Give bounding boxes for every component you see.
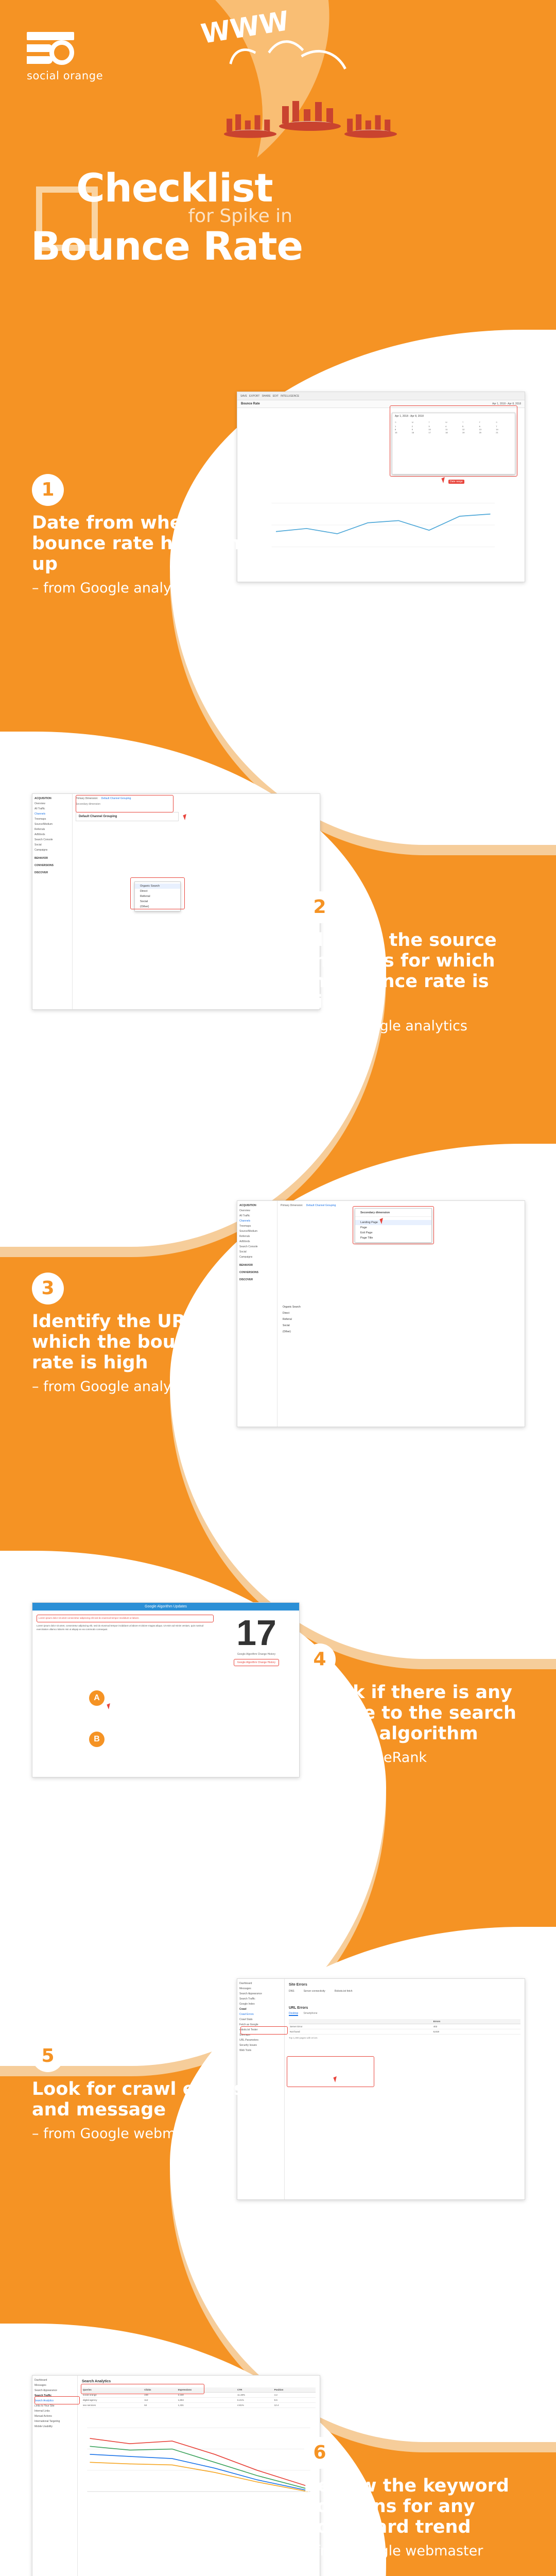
site-error-item: Robots.txt fetch xyxy=(335,1990,353,1993)
tab-smartphone[interactable]: Smartphone xyxy=(303,2012,317,2016)
fountain-base-icon xyxy=(279,102,341,131)
nav-item[interactable]: Search Console xyxy=(239,1244,275,1249)
screenshot-google-analytics-overview[interactable]: SAVE EXPORT SHARE EDIT INTELLIGENCE Boun… xyxy=(237,392,525,582)
ga-left-nav[interactable]: ACQUISITION Overview All Traffic Channel… xyxy=(32,794,73,1009)
nav-item[interactable]: Manual Actions xyxy=(34,2414,75,2419)
cell: 8.6 xyxy=(273,2398,316,2403)
step-source: – from Google analytics xyxy=(32,580,253,597)
cell: Server Error xyxy=(289,2024,432,2029)
col-header xyxy=(289,2019,432,2024)
nav-item[interactable]: Treemaps xyxy=(239,1224,275,1229)
list-item[interactable]: Organic Search xyxy=(283,1304,301,1310)
list-item[interactable]: Referral xyxy=(283,1316,301,1323)
cell: 1,804 xyxy=(177,2398,236,2403)
screenshot-algorithm-update[interactable]: Google Algorithm Updates Lorem ipsum dol… xyxy=(32,1602,300,1777)
highlight-box xyxy=(81,2384,204,2394)
list-item[interactable]: Direct xyxy=(283,1310,301,1316)
banner-title: Google Algorithm Updates xyxy=(32,1603,299,1611)
update-count: 17 xyxy=(218,1615,295,1651)
nav-item[interactable]: Crawl xyxy=(239,2007,282,2012)
panel-title: Search Analytics xyxy=(82,2380,316,2383)
nav-item[interactable]: Google Index xyxy=(239,2002,282,2007)
step-2: 2 Identify the source channels for which… xyxy=(304,891,525,1035)
step-number-badge: 3 xyxy=(32,1273,64,1304)
list-item[interactable]: Social xyxy=(283,1323,301,1329)
cell: 4.2 xyxy=(273,2393,316,2398)
step-title: Review the keyword positions for any dow… xyxy=(304,2476,525,2538)
nav-item[interactable]: Dashboard xyxy=(239,1981,282,1986)
channel-list[interactable]: Organic Search Direct Referral Social (O… xyxy=(283,1304,301,1335)
step-source: – from Google webmaster xyxy=(32,2126,253,2142)
step-title: Identify the URL for which the bounce ra… xyxy=(32,1312,253,1374)
highlight-box xyxy=(240,2026,288,2035)
site-error-item: DNS xyxy=(289,1990,294,1993)
step-number-badge: 6 xyxy=(304,2437,336,2469)
nav-item[interactable]: Messages xyxy=(34,2383,75,2388)
ga-report-title: Bounce Rate xyxy=(241,402,260,405)
nav-item[interactable]: Search Appearance xyxy=(239,1991,282,1996)
step-6: 6 Review the keyword positions for any d… xyxy=(304,2437,525,2560)
ga-toolbar[interactable]: SAVE EXPORT SHARE EDIT INTELLIGENCE xyxy=(237,392,525,400)
step-number-badge: 4 xyxy=(304,1643,336,1675)
nav-header: ACQUISITION xyxy=(34,796,70,801)
step-source: – from Google analytics xyxy=(32,1379,253,1395)
site-errors-title: Site Errors xyxy=(289,1983,520,1987)
nav-item[interactable]: Search Console xyxy=(34,837,70,842)
primary-dimension-label: Primary Dimension: xyxy=(281,1204,303,1207)
fountain-base-icon xyxy=(344,113,397,138)
cell: 402 xyxy=(432,2024,520,2029)
nav-item[interactable]: Social xyxy=(34,842,70,848)
nav-item[interactable]: Messages xyxy=(239,1986,282,1991)
nav-item[interactable]: DISCOVER xyxy=(34,870,70,875)
nav-item[interactable]: Campaigns xyxy=(239,1255,275,1260)
cell: 112 xyxy=(143,2398,177,2403)
cell: 11.48% xyxy=(236,2393,273,2398)
channel-grouping-panel: Default Channel Grouping xyxy=(76,812,179,821)
nav-item[interactable]: CONVERSIONS xyxy=(34,863,70,868)
tab-desktop[interactable]: Desktop xyxy=(289,2012,298,2016)
hero-title-line1: Checklist xyxy=(31,170,381,206)
cell: 4.81% xyxy=(236,2403,273,2408)
table-footnote: Top 1,000 pages with errors xyxy=(289,2037,520,2039)
screenshot-ga-acquisition-channels[interactable]: ACQUISITION Overview All Traffic Channel… xyxy=(32,793,320,1010)
nav-item[interactable]: AdWords xyxy=(34,832,70,837)
toolbar-item[interactable]: INTELLIGENCE xyxy=(281,395,299,398)
infographic-page: social orange WWW Checklist for Sp xyxy=(0,0,556,2576)
logo-mark-icon xyxy=(27,32,74,65)
highlight-box xyxy=(76,795,173,812)
logo-wordmark: social orange xyxy=(27,70,125,82)
list-item[interactable]: (Other) xyxy=(283,1329,301,1335)
step-3: 3 Identify the URL for which the bounce … xyxy=(32,1273,253,1395)
table-row: Not found 8,819 xyxy=(289,2029,520,2035)
table-row: seo services 64 1,331 4.81% 12.4 xyxy=(82,2403,316,2408)
nav-item[interactable]: Crawl Stats xyxy=(239,2017,282,2022)
table-row: Server Error 402 xyxy=(289,2024,520,2029)
step-title: Date from when bounce rate has gone up xyxy=(32,513,253,575)
col-header: Errors xyxy=(432,2019,520,2024)
nav-item[interactable]: International Targeting xyxy=(34,2419,75,2424)
url-errors-table: Errors Server Error 402 Not found 8,819 xyxy=(289,2019,520,2035)
toolbar-item[interactable]: SAVE xyxy=(240,395,247,398)
nav-item[interactable]: AdWords xyxy=(239,1239,275,1244)
step-title: Check if there is any update to the sear… xyxy=(304,1683,525,1744)
webmaster-left-nav[interactable]: Dashboard Messages Search Appearance Sea… xyxy=(32,2376,78,2576)
table-row: digital agency 112 1,804 6.21% 8.6 xyxy=(82,2398,316,2403)
screenshot-webmaster-crawl-errors[interactable]: Dashboard Messages Search Appearance Sea… xyxy=(237,1978,525,2200)
cell: digital agency xyxy=(82,2398,143,2403)
highlight-box xyxy=(34,2396,80,2404)
nav-item[interactable]: Referrals xyxy=(239,1234,275,1239)
nav-item[interactable]: BEHAVIOR xyxy=(34,856,70,861)
nav-item[interactable]: Dashboard xyxy=(34,2378,75,2383)
nav-item[interactable]: Referrals xyxy=(34,827,70,832)
cell: 64 xyxy=(143,2403,177,2408)
nav-item[interactable]: Treemaps xyxy=(34,817,70,822)
cell: 8,819 xyxy=(432,2029,520,2035)
article-body: Lorem ipsum dolor sit amet consectetur a… xyxy=(37,1615,214,1666)
step-title: Look for crawl errors and message xyxy=(32,2079,253,2121)
nav-item[interactable]: BEHAVIOR xyxy=(239,1263,275,1268)
highlight-box xyxy=(287,2056,374,2087)
marker-badge-a: A xyxy=(89,1690,105,1706)
hero-headline: Checklist for Spike in Bounce Rate xyxy=(31,170,381,265)
callout-label: Date range xyxy=(448,480,464,484)
screenshot-keyword-rank-tracker[interactable]: Dashboard Messages Search Appearance Sea… xyxy=(32,2375,320,2576)
bounce-rate-line-chart xyxy=(237,490,525,578)
nav-item[interactable]: Source/Medium xyxy=(239,1229,275,1234)
step-1: 1 Date from when bounce rate has gone up… xyxy=(32,474,253,597)
nav-item[interactable]: Source/Medium xyxy=(34,822,70,827)
cell: Not found xyxy=(289,2029,432,2035)
nav-item[interactable]: Search Traffic xyxy=(239,1996,282,2002)
nav-item[interactable]: Social xyxy=(239,1249,275,1255)
cell: 12.4 xyxy=(273,2403,316,2408)
nav-item[interactable]: Internal Links xyxy=(34,2409,75,2414)
hero-title-line2: Bounce Rate xyxy=(31,228,381,265)
nav-item[interactable]: Channels xyxy=(239,1218,275,1224)
primary-dimension-value[interactable]: Default Channel Grouping xyxy=(306,1204,336,1207)
step-number-badge: 5 xyxy=(32,2040,64,2072)
cursor-icon xyxy=(107,1703,112,1709)
step-source: – Using PageRank xyxy=(304,1750,525,1766)
nav-header: ACQUISITION xyxy=(239,1203,275,1208)
step-source: – from Google webmaster xyxy=(304,2543,525,2560)
cell: 1,331 xyxy=(177,2403,236,2408)
nav-item[interactable]: Channels xyxy=(34,811,70,817)
nav-item[interactable]: Search Appearance xyxy=(34,2388,75,2393)
highlight-box xyxy=(390,405,517,477)
nav-item[interactable]: Crawl Errors xyxy=(239,2012,282,2017)
highlight-box xyxy=(353,1206,434,1244)
nav-item[interactable]: Overview xyxy=(34,801,70,806)
nav-item[interactable]: All Traffic xyxy=(34,806,70,811)
cursor-icon xyxy=(441,477,446,483)
marker-badge-b: B xyxy=(89,1732,105,1747)
toolbar-item[interactable]: EDIT xyxy=(273,395,279,398)
toolbar-item[interactable]: EXPORT xyxy=(249,395,259,398)
step-5: 5 Look for crawl errors and message – fr… xyxy=(32,2040,253,2142)
cursor-icon xyxy=(183,814,188,820)
step-source: – from Google analytics xyxy=(304,1018,525,1035)
brand-logo[interactable]: social orange xyxy=(27,32,125,82)
fountain-base-icon xyxy=(224,113,276,138)
panel-title: Default Channel Grouping xyxy=(79,815,176,818)
nav-item[interactable]: Mobile Usability xyxy=(34,2424,75,2429)
screenshot-ga-landing-pages[interactable]: ACQUISITION Overview All Traffic Channel… xyxy=(237,1200,525,1427)
step-number-badge: 2 xyxy=(304,891,336,923)
toolbar-item[interactable]: SHARE xyxy=(262,395,270,398)
site-error-item: Server connectivity xyxy=(304,1990,325,1993)
highlight-box: Google Algorithm Change History xyxy=(234,1659,279,1666)
col-header: CTR xyxy=(236,2387,273,2393)
url-errors-title: URL Errors xyxy=(289,2006,520,2010)
highlight-box xyxy=(130,877,185,909)
step-title: Identify the source channels for which t… xyxy=(304,930,525,1013)
nav-item[interactable]: Overview xyxy=(239,1208,275,1213)
cell: 6.21% xyxy=(236,2398,273,2403)
update-caption: Google Algorithm Change History xyxy=(218,1653,295,1656)
col-header: Position xyxy=(273,2387,316,2393)
step-number-badge: 1 xyxy=(32,474,64,506)
highlight-box: Lorem ipsum dolor sit amet consectetur a… xyxy=(37,1615,214,1622)
keyword-trend-chart xyxy=(82,2413,316,2501)
step-4: 4 Check if there is any update to the se… xyxy=(304,1643,525,1766)
cell: seo services xyxy=(82,2403,143,2408)
nav-item[interactable]: All Traffic xyxy=(239,1213,275,1218)
nav-item[interactable]: Campaigns xyxy=(34,848,70,853)
